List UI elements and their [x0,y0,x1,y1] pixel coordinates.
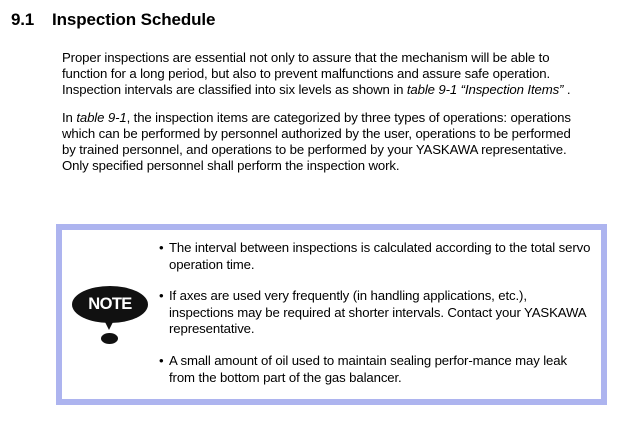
bullet-icon: • [159,353,169,386]
body-column: Proper inspections are essential not onl… [62,50,582,185]
note-item-text: A small amount of oil used to maintain s… [169,353,593,386]
paragraph-2-segment-1: In [62,110,76,125]
note-item-text: If axes are used very frequently (in han… [169,288,593,338]
note-icon-cell: NOTE [62,230,159,399]
note-item-text: The interval between inspections is calc… [169,240,593,273]
note-list-item: • The interval between inspections is ca… [159,240,593,273]
page-title: Inspection Schedule [52,10,215,30]
section-heading: 9.1 Inspection Schedule [0,10,215,30]
paragraph-2-segment-2: table 9-1 [76,110,126,125]
note-callout-box: NOTE • The interval between inspections … [56,224,607,405]
note-speech-bubble-icon: NOTE [72,286,148,332]
note-badge-label: NOTE [72,286,148,323]
bullet-icon: • [159,288,169,338]
note-content: • The interval between inspections is ca… [159,230,601,386]
paragraph-1-segment-2: table 9-1 “Inspection Items” [407,82,563,97]
paragraph-1-segment-3: . [563,82,570,97]
note-bubble-dot [101,333,118,344]
note-list-item: • If axes are used very frequently (in h… [159,288,593,338]
paragraph-1: Proper inspections are essential not onl… [62,50,582,99]
note-list-item: • A small amount of oil used to maintain… [159,353,593,386]
bullet-icon: • [159,240,169,273]
paragraph-2-segment-3: , the inspection items are categorized b… [62,110,571,174]
paragraph-2: In table 9-1, the inspection items are c… [62,110,582,175]
section-number: 9.1 [0,10,52,30]
